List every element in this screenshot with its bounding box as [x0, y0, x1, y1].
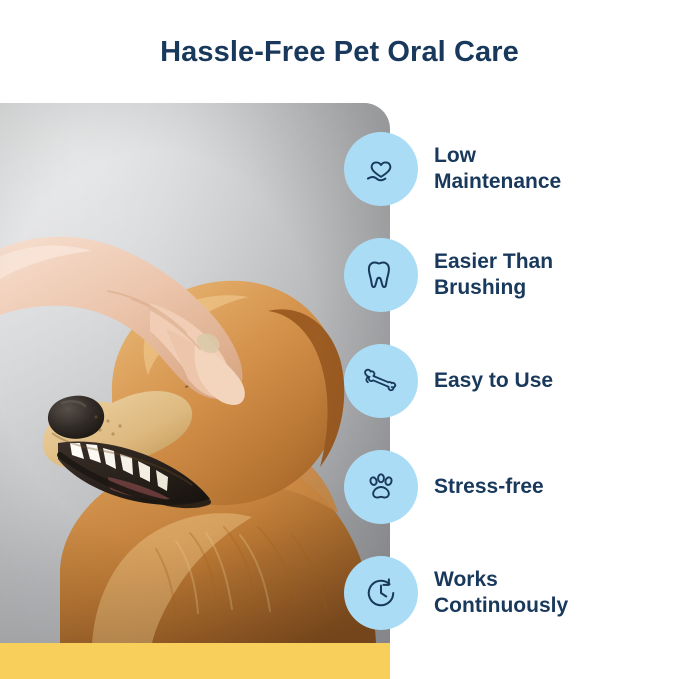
feature-item-stress-free: Stress-free [344, 450, 544, 524]
product-infographic: Hassle-Free Pet Oral Care [0, 0, 679, 679]
feature-label: Works Continuously [434, 567, 568, 619]
paw-print-icon [344, 450, 418, 524]
clock-icon [344, 556, 418, 630]
feature-label: Easier Than Brushing [434, 249, 553, 301]
heart-with-brush-stroke-icon [344, 132, 418, 206]
feature-label: Stress-free [434, 474, 544, 500]
feature-item-easier-than-brushing: Easier Than Brushing [344, 238, 553, 312]
bottom-accent-strip [0, 643, 390, 679]
tooth-icon [344, 238, 418, 312]
photo-vignette [0, 103, 390, 643]
feature-label: Easy to Use [434, 368, 553, 394]
dog-bone-icon [344, 344, 418, 418]
feature-item-works-continuously: Works Continuously [344, 556, 568, 630]
page-title: Hassle-Free Pet Oral Care [0, 36, 679, 69]
feature-item-low-maintenance: Low Maintenance [344, 132, 561, 206]
feature-item-easy-to-use: Easy to Use [344, 344, 553, 418]
feature-label: Low Maintenance [434, 143, 561, 195]
hero-photo [0, 103, 390, 643]
